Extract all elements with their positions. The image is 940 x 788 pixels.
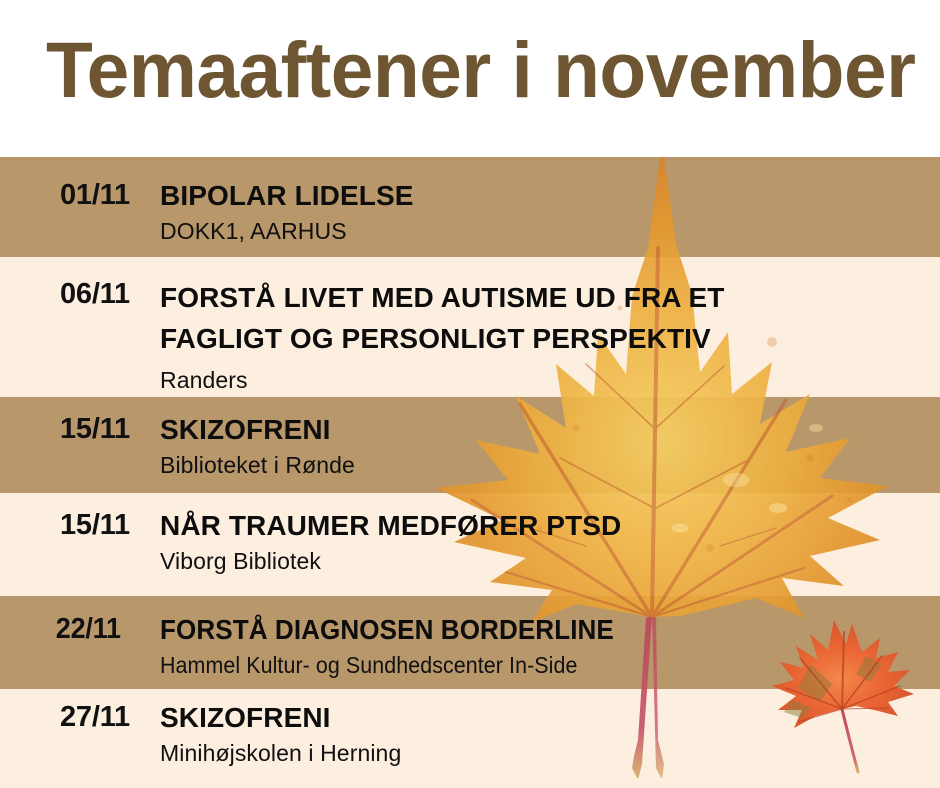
event-venue: Randers: [160, 365, 830, 395]
event-venue: Viborg Bibliotek: [160, 546, 930, 576]
event-row-6: 27/11 SKIZOFRENI Minihøjskolen i Herning: [0, 700, 940, 768]
event-body: SKIZOFRENI Biblioteket i Rønde: [160, 412, 940, 480]
event-row-3: 15/11 SKIZOFRENI Biblioteket i Rønde: [0, 412, 940, 480]
event-title: FORSTÅ DIAGNOSEN BORDERLINE: [160, 612, 876, 647]
event-body: FORSTÅ DIAGNOSEN BORDERLINE Hammel Kultu…: [160, 612, 940, 680]
event-date: 01/11: [0, 178, 160, 212]
title-bar: Temaaftener i november: [0, 0, 940, 157]
event-body: NÅR TRAUMER MEDFØRER PTSD Viborg Bibliot…: [160, 508, 940, 576]
event-row-4: 15/11 NÅR TRAUMER MEDFØRER PTSD Viborg B…: [0, 508, 940, 576]
event-date: 15/11: [0, 508, 160, 542]
poster-canvas: Temaaftener i november 01/11 BIPOLAR LID…: [0, 0, 940, 788]
event-date: 22/11: [0, 612, 149, 646]
event-venue: Minihøjskolen i Herning: [160, 738, 930, 768]
event-row-5: 22/11 FORSTÅ DIAGNOSEN BORDERLINE Hammel…: [0, 612, 940, 680]
event-venue: Biblioteket i Rønde: [160, 450, 930, 480]
event-body: SKIZOFRENI Minihøjskolen i Herning: [160, 700, 940, 768]
event-date: 15/11: [0, 412, 160, 446]
event-body: BIPOLAR LIDELSE DOKK1, AARHUS: [160, 178, 940, 246]
event-row-1: 01/11 BIPOLAR LIDELSE DOKK1, AARHUS: [0, 178, 940, 246]
event-title: BIPOLAR LIDELSE: [160, 178, 930, 213]
event-body: FORSTÅ LIVET MED AUTISME UD FRA ET FAGLI…: [160, 277, 940, 395]
event-title: NÅR TRAUMER MEDFØRER PTSD: [160, 508, 930, 543]
event-title: SKIZOFRENI: [160, 412, 930, 447]
event-date: 27/11: [0, 700, 160, 734]
event-row-2: 06/11 FORSTÅ LIVET MED AUTISME UD FRA ET…: [0, 277, 940, 395]
event-title: SKIZOFRENI: [160, 700, 930, 735]
event-title: FORSTÅ LIVET MED AUTISME UD FRA ET FAGLI…: [160, 277, 830, 359]
event-venue: Hammel Kultur- og Sundhedscenter In-Side: [160, 650, 876, 680]
page-title: Temaaftener i november: [46, 24, 880, 116]
event-venue: DOKK1, AARHUS: [160, 216, 930, 246]
event-date: 06/11: [0, 277, 160, 311]
